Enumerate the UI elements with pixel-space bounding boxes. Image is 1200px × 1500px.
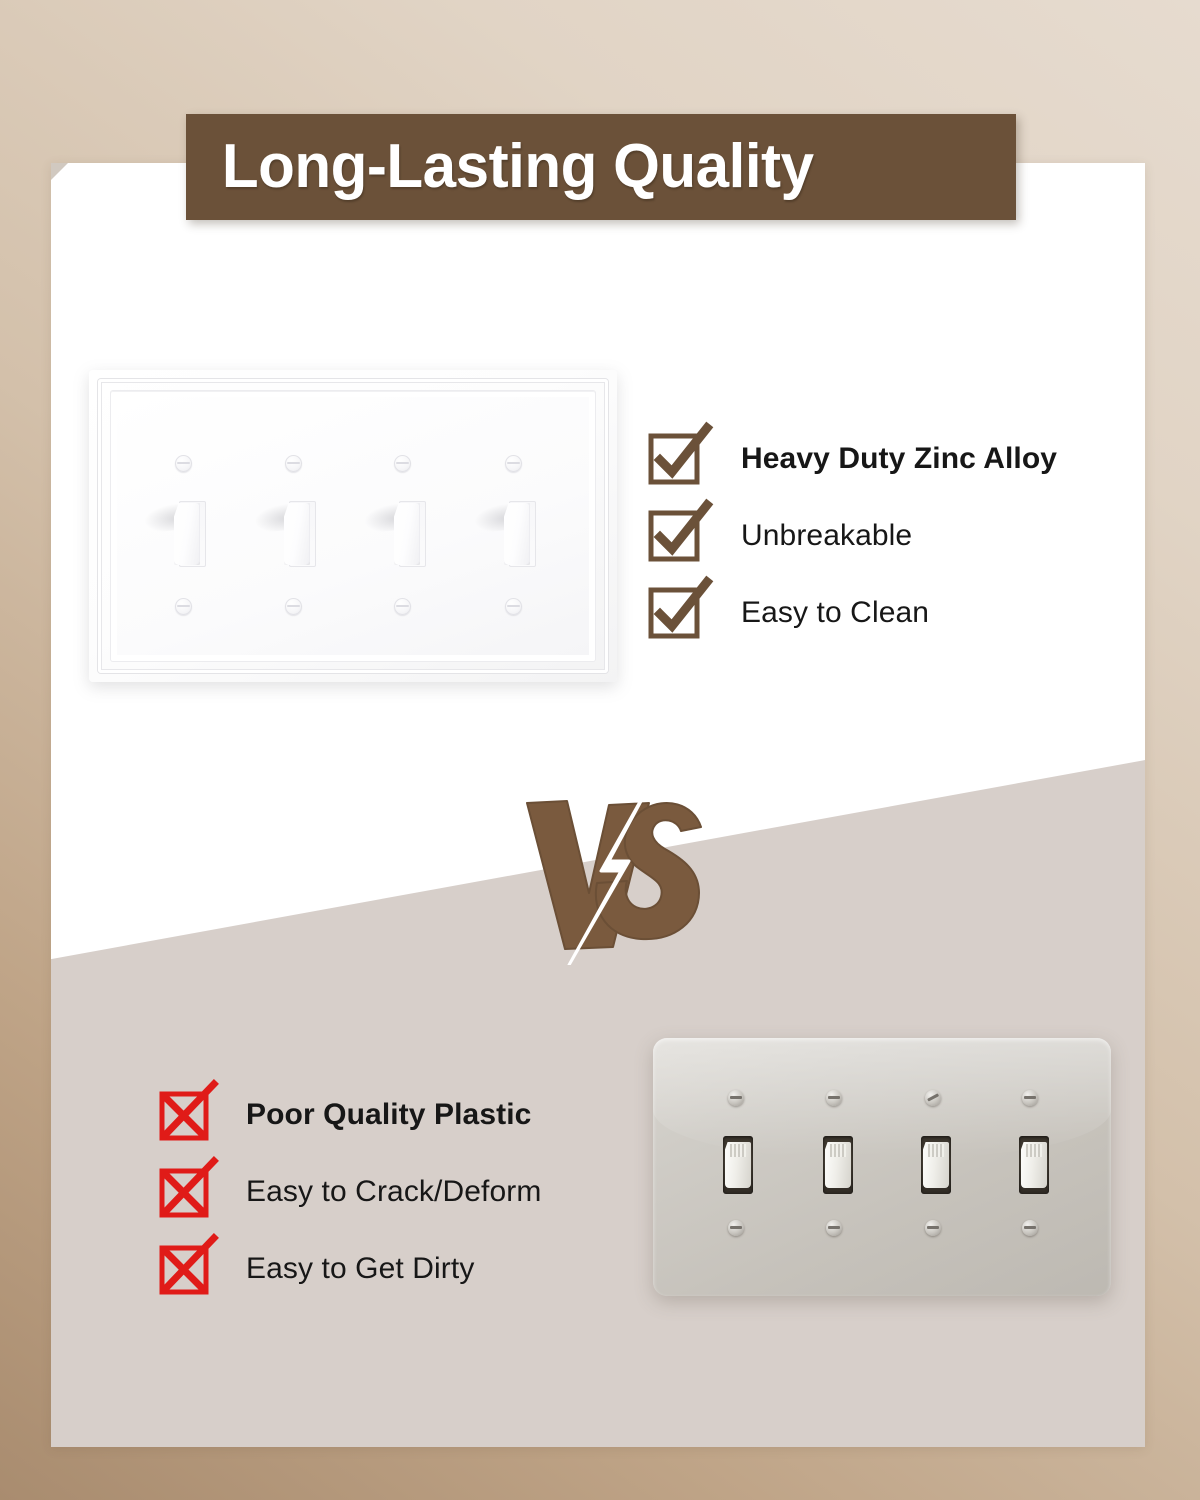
toggle-switch <box>1019 1136 1049 1194</box>
folded-corner-decoration <box>51 163 68 180</box>
content-card: Heavy Duty Zinc Alloy Unbreakable <box>51 163 1145 1447</box>
white-wall-plate-image <box>89 370 617 682</box>
list-item: Poor Quality Plastic <box>160 1076 541 1153</box>
pros-list: Heavy Duty Zinc Alloy Unbreakable <box>651 420 1057 651</box>
screw-icon <box>505 598 522 615</box>
toggle-switch <box>823 1136 853 1194</box>
check-icon <box>651 513 697 559</box>
toggle-switch <box>179 501 206 567</box>
list-item: Easy to Crack/Deform <box>160 1153 541 1230</box>
screw-icon <box>394 455 411 472</box>
screw-icon <box>175 455 192 472</box>
screw-icon <box>925 1220 941 1236</box>
list-item: Unbreakable <box>651 497 1057 574</box>
page-title: Long-Lasting Quality <box>186 136 814 198</box>
check-icon <box>651 590 697 636</box>
beige-wall-plate-image <box>653 1038 1111 1296</box>
toggle-switch <box>399 501 426 567</box>
toggle-switch <box>723 1136 753 1194</box>
screw-icon <box>175 598 192 615</box>
vs-divider <box>505 775 720 965</box>
white-plate-body <box>89 370 617 682</box>
screw-icon <box>826 1090 842 1106</box>
cons-list: Poor Quality Plastic Easy to Crack/Defor… <box>160 1076 541 1307</box>
list-item-label: Easy to Crack/Deform <box>246 1175 541 1209</box>
list-item: Heavy Duty Zinc Alloy <box>651 420 1057 497</box>
screw-icon <box>285 598 302 615</box>
toggle-switch <box>289 501 316 567</box>
list-item-label: Unbreakable <box>741 519 912 553</box>
cross-icon <box>160 1092 206 1138</box>
beige-plate-body <box>653 1038 1111 1296</box>
screw-icon <box>1022 1090 1038 1106</box>
screw-icon <box>925 1090 941 1106</box>
screw-icon <box>826 1220 842 1236</box>
screw-icon <box>1022 1220 1038 1236</box>
list-item: Easy to Get Dirty <box>160 1230 541 1307</box>
toggle-switch <box>921 1136 951 1194</box>
screw-icon <box>285 455 302 472</box>
toggle-switch <box>509 501 536 567</box>
screw-icon <box>728 1090 744 1106</box>
list-item: Easy to Clean <box>651 574 1057 651</box>
screw-icon <box>394 598 411 615</box>
cross-icon <box>160 1169 206 1215</box>
title-banner: Long-Lasting Quality <box>186 114 1016 220</box>
check-icon <box>651 436 697 482</box>
list-item-label: Easy to Get Dirty <box>246 1252 474 1286</box>
cross-icon <box>160 1246 206 1292</box>
screw-icon <box>505 455 522 472</box>
screw-icon <box>728 1220 744 1236</box>
list-item-label: Easy to Clean <box>741 596 929 630</box>
list-item-label: Heavy Duty Zinc Alloy <box>741 442 1057 476</box>
list-item-label: Poor Quality Plastic <box>246 1098 531 1132</box>
infographic-canvas: Heavy Duty Zinc Alloy Unbreakable <box>0 0 1200 1500</box>
